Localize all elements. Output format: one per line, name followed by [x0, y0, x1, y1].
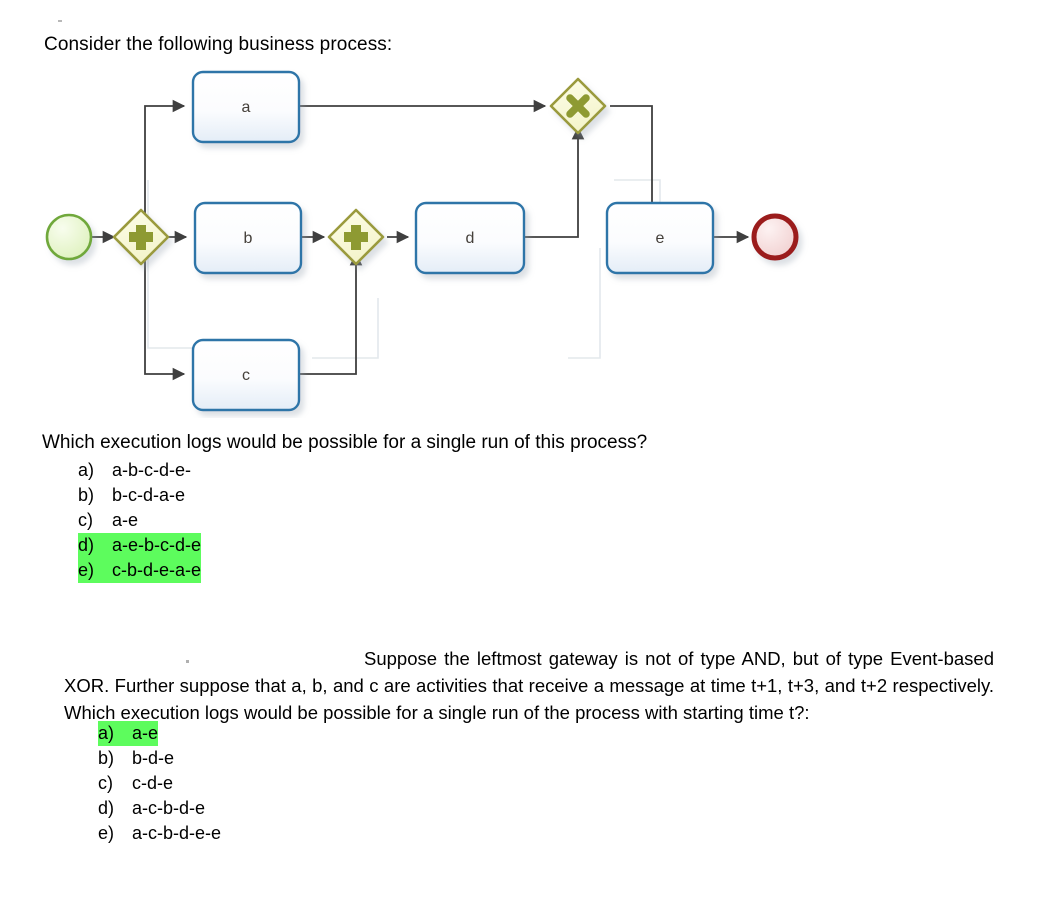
option-q2-a[interactable]: a)a-e [98, 721, 158, 746]
option-marker: e) [78, 558, 112, 583]
task-a-label: a [242, 99, 251, 116]
option-marker: d) [78, 533, 112, 558]
task-a: a [193, 72, 299, 142]
option-marker: d) [98, 796, 132, 821]
option-text: c-b-d-e-a-e [112, 558, 201, 583]
question-2-paragraph: Suppose the leftmost gateway is not of t… [64, 645, 994, 726]
option-q1-d[interactable]: d)a-e-b-c-d-e [78, 533, 201, 558]
task-e-label: e [656, 230, 665, 247]
option-q1-a[interactable]: a)a-b-c-d-e- [78, 458, 191, 483]
task-d: d [416, 203, 524, 273]
task-b-label: b [244, 230, 253, 247]
option-text: b-c-d-a-e [112, 483, 185, 508]
option-text: a-e [132, 721, 158, 746]
option-marker: c) [98, 771, 132, 796]
option-q2-d[interactable]: d)a-c-b-d-e [98, 796, 205, 821]
flow-d-to-xor [525, 128, 578, 237]
start-event [47, 215, 91, 259]
flow-split-to-a [145, 106, 184, 228]
flow-split-to-c [145, 250, 184, 374]
option-q2-e[interactable]: e)a-c-b-d-e-e [98, 821, 221, 846]
answer-options-2: a)a-eb)b-d-ec)c-d-ed)a-c-b-d-ee)a-c-b-d-… [98, 721, 221, 846]
task-d-label: d [466, 230, 475, 247]
question-2-body: Suppose the leftmost gateway is not of t… [64, 648, 994, 723]
flow-c-to-join [299, 254, 356, 374]
option-text: a-c-b-d-e-e [132, 821, 221, 846]
task-e: e [607, 203, 713, 273]
option-marker: b) [78, 483, 112, 508]
option-text: c-d-e [132, 771, 173, 796]
task-c: c [193, 340, 299, 410]
option-marker: a) [78, 458, 112, 483]
gateway-and-join [329, 210, 383, 264]
option-text: a-e-b-c-d-e [112, 533, 201, 558]
option-text: a-c-b-d-e [132, 796, 205, 821]
option-text: a-e [112, 508, 138, 533]
option-marker: c) [78, 508, 112, 533]
answer-options-1: a)a-b-c-d-e-b)b-c-d-a-ec)a-ed)a-e-b-c-d-… [78, 458, 201, 583]
gateway-and-split [114, 210, 168, 264]
option-text: a-b-c-d-e- [112, 458, 191, 483]
task-c-label: c [242, 367, 250, 384]
question-1-text: Which execution logs would be possible f… [42, 430, 647, 456]
option-marker: e) [98, 821, 132, 846]
gateway-xor-join [551, 79, 605, 133]
option-q1-b[interactable]: b)b-c-d-a-e [78, 483, 185, 508]
option-q2-b[interactable]: b)b-d-e [98, 746, 174, 771]
bpmn-process-diagram: a b c d e [0, 58, 1044, 418]
option-q2-c[interactable]: c)c-d-e [98, 771, 173, 796]
option-marker: b) [98, 746, 132, 771]
option-marker: a) [98, 721, 132, 746]
scan-speck-top [58, 20, 62, 22]
task-b: b [195, 203, 301, 273]
intro-text: Consider the following business process: [44, 32, 392, 58]
end-event [754, 216, 796, 258]
option-q1-c[interactable]: c)a-e [78, 508, 138, 533]
option-q1-e[interactable]: e)c-b-d-e-a-e [78, 558, 201, 583]
option-text: b-d-e [132, 746, 174, 771]
